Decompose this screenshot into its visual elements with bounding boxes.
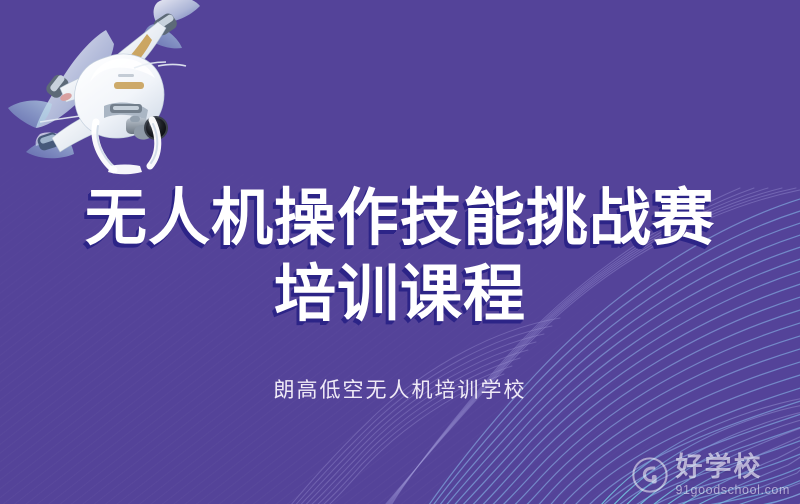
watermark-url: 91goodschool.com — [675, 484, 790, 497]
watermark: 好学校 91goodschool.com — [631, 454, 790, 497]
good-school-logo-icon — [631, 456, 669, 494]
title-line-2: 培训课程 — [0, 262, 800, 325]
poster-canvas: 无人机操作技能挑战赛 培训课程 朗高低空无人机培训学校 好学校 91goodsc… — [0, 0, 800, 504]
watermark-brand: 好学校 — [675, 454, 762, 481]
school-name-subtitle: 朗高低空无人机培训学校 — [0, 374, 800, 404]
headline-block: 无人机操作技能挑战赛 培训课程 — [0, 186, 800, 325]
drone-illustration — [6, 0, 222, 190]
title-line-1: 无人机操作技能挑战赛 — [0, 186, 800, 249]
